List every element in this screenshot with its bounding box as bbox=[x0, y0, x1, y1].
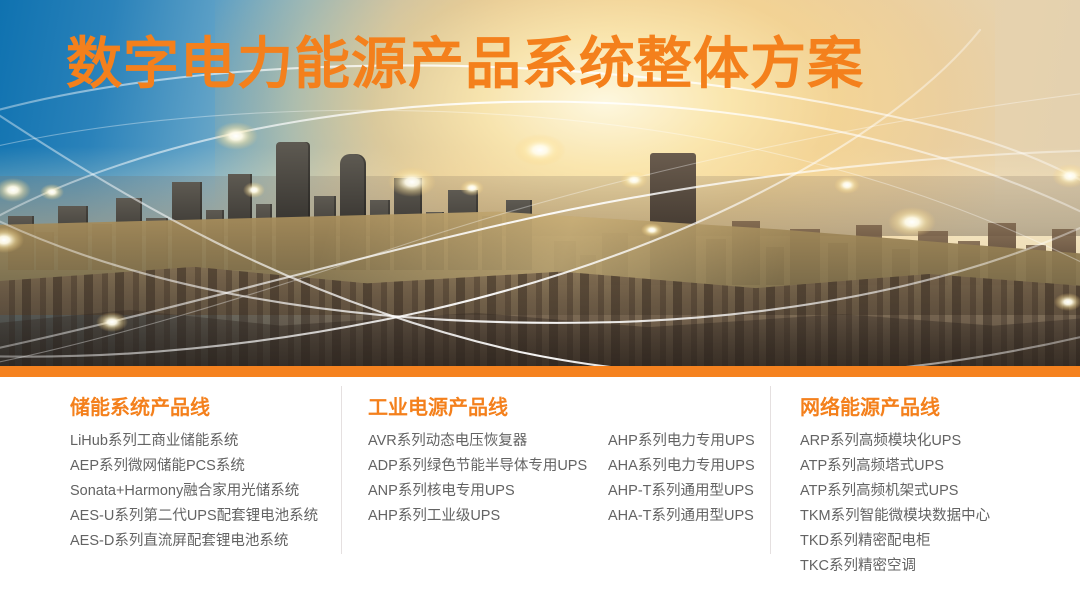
list-item[interactable]: AHP系列工业级UPS bbox=[368, 509, 608, 524]
list-item[interactable]: ADP系列绿色节能半导体专用UPS bbox=[368, 459, 608, 474]
column-divider-1 bbox=[341, 386, 342, 554]
list-item[interactable]: TKC系列精密空调 bbox=[800, 559, 1060, 574]
column-divider-2 bbox=[770, 386, 771, 554]
column-heading-network-energy: 网络能源产品线 bbox=[800, 398, 1060, 418]
list-item[interactable]: AHP-T系列通用型UPS bbox=[608, 484, 758, 499]
list-item[interactable]: ARP系列高频模块化UPS bbox=[800, 434, 1060, 449]
column-heading-industrial-power: 工业电源产品线 bbox=[368, 398, 758, 418]
list-item[interactable]: AES-D系列直流屏配套锂电池系统 bbox=[70, 534, 330, 549]
product-list-industrial-power-left: AVR系列动态电压恢复器 ADP系列绿色节能半导体专用UPS ANP系列核电专用… bbox=[368, 434, 608, 534]
list-item[interactable]: AVR系列动态电压恢复器 bbox=[368, 434, 608, 449]
product-list-network-energy: ARP系列高频模块化UPS ATP系列高频塔式UPS ATP系列高频机架式UPS… bbox=[800, 434, 1060, 574]
list-item[interactable]: LiHub系列工商业储能系统 bbox=[70, 434, 330, 449]
page-title: 数字电力能源产品系统整体方案 bbox=[66, 33, 864, 96]
list-item[interactable]: ATP系列高频塔式UPS bbox=[800, 459, 1060, 474]
list-item[interactable]: AHP系列电力专用UPS bbox=[608, 434, 758, 449]
list-item[interactable]: AEP系列微网储能PCS系统 bbox=[70, 459, 330, 474]
list-item[interactable]: AHA系列电力专用UPS bbox=[608, 459, 758, 474]
product-lines-section: 储能系统产品线 LiHub系列工商业储能系统 AEP系列微网储能PCS系统 So… bbox=[0, 377, 1080, 608]
presentation-slide: 数字电力能源产品系统整体方案 储能系统产品线 LiHub系列工商业储能系统 AE… bbox=[0, 0, 1080, 608]
list-item[interactable]: AHA-T系列通用型UPS bbox=[608, 509, 758, 524]
hero-banner: 数字电力能源产品系统整体方案 bbox=[0, 0, 1080, 366]
product-list-industrial-power-right: AHP系列电力专用UPS AHA系列电力专用UPS AHP-T系列通用型UPS … bbox=[608, 434, 758, 534]
list-item[interactable]: Sonata+Harmony融合家用光储系统 bbox=[70, 484, 330, 499]
list-item[interactable]: TKD系列精密配电柜 bbox=[800, 534, 1060, 549]
product-column-network-energy: 网络能源产品线 ARP系列高频模块化UPS ATP系列高频塔式UPS ATP系列… bbox=[800, 377, 1060, 584]
accent-divider-bar bbox=[0, 366, 1080, 377]
list-item[interactable]: TKM系列智能微模块数据中心 bbox=[800, 509, 1060, 524]
list-item[interactable]: AES-U系列第二代UPS配套锂电池系统 bbox=[70, 509, 330, 524]
column-heading-energy-storage: 储能系统产品线 bbox=[70, 398, 330, 418]
list-item[interactable]: ATP系列高频机架式UPS bbox=[800, 484, 1060, 499]
list-item[interactable]: ANP系列核电专用UPS bbox=[368, 484, 608, 499]
product-column-industrial-power: 工业电源产品线 AVR系列动态电压恢复器 ADP系列绿色节能半导体专用UPS A… bbox=[368, 377, 758, 534]
product-list-energy-storage: LiHub系列工商业储能系统 AEP系列微网储能PCS系统 Sonata+Har… bbox=[70, 434, 330, 549]
product-column-energy-storage: 储能系统产品线 LiHub系列工商业储能系统 AEP系列微网储能PCS系统 So… bbox=[70, 377, 330, 559]
